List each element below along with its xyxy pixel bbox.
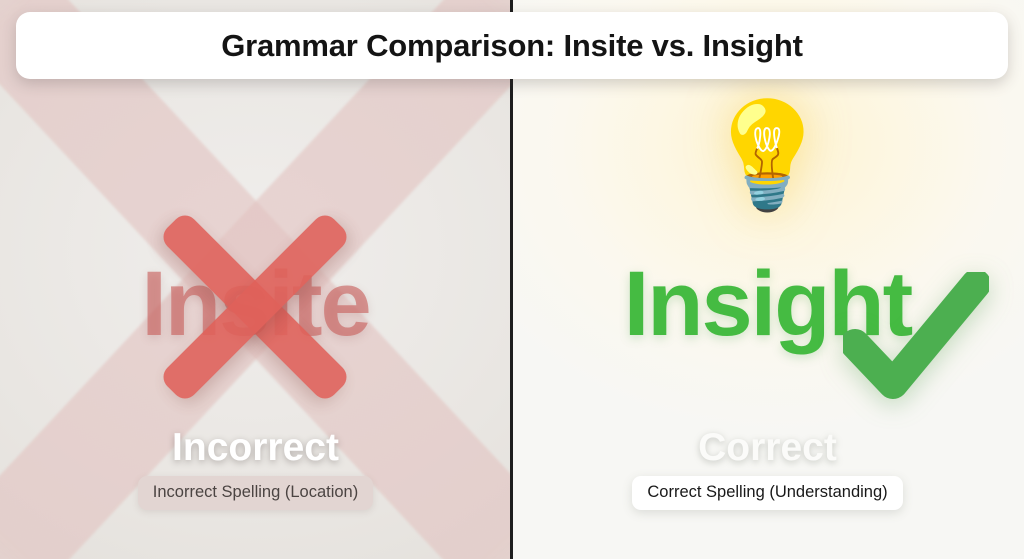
lightbulb-icon: 💡 — [511, 104, 1024, 208]
incorrect-panel: Insite Incorrect Incorrect Spelling (Loc… — [0, 0, 511, 559]
panel-divider — [510, 0, 513, 559]
checkmark-icon — [843, 272, 989, 404]
page-title: Grammar Comparison: Insite vs. Insight — [221, 30, 803, 61]
title-card: Grammar Comparison: Insite vs. Insight — [16, 12, 1008, 79]
incorrect-verdict-label: Incorrect — [0, 428, 511, 467]
incorrect-badge: Incorrect Spelling (Location) — [138, 476, 373, 510]
correct-badge-row: Correct Spelling (Understanding) — [511, 476, 1024, 510]
correct-badge: Correct Spelling (Understanding) — [632, 476, 902, 510]
incorrect-badge-row: Incorrect Spelling (Location) — [0, 476, 511, 510]
correct-panel: 💡 Insight Correct Correct Spelling (Unde… — [511, 0, 1024, 559]
grammar-comparison-infographic: Insite Incorrect Incorrect Spelling (Loc… — [0, 0, 1024, 559]
correct-verdict-label: Correct — [511, 428, 1024, 467]
